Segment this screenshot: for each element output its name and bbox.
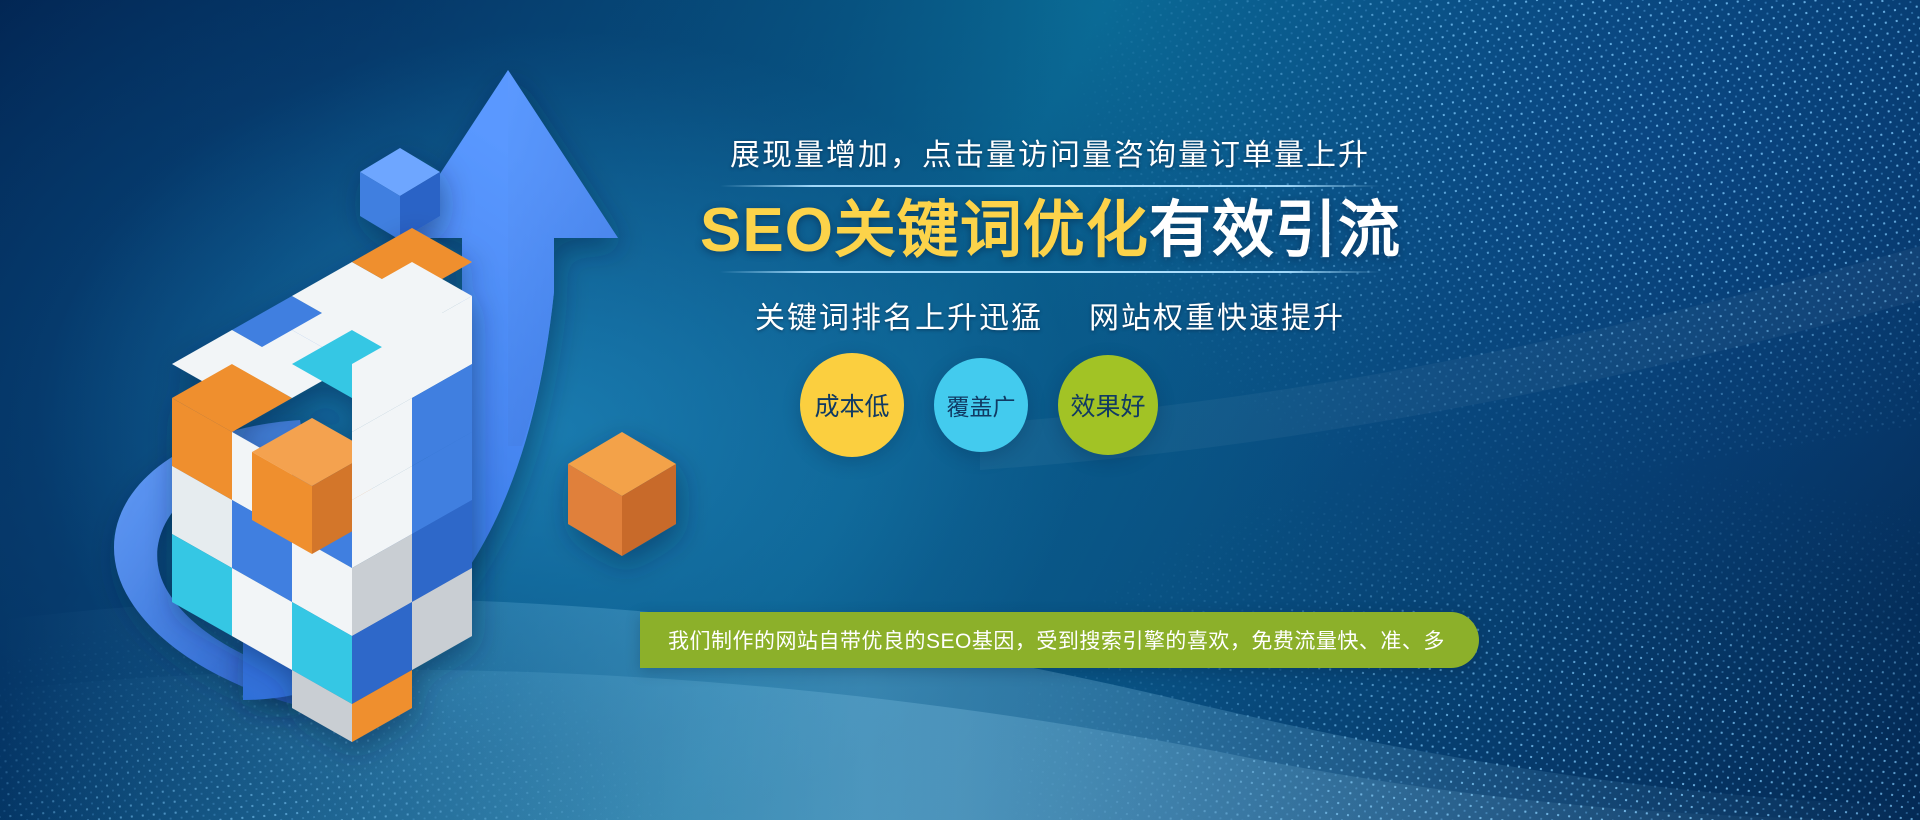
tagline-left: 关键词排名上升迅猛 — [755, 302, 1043, 335]
small-orange-cube-icon — [568, 432, 676, 556]
headline: SEO关键词优化有效引流 — [700, 196, 1400, 265]
divider-top — [720, 185, 1380, 187]
badge-low-cost[interactable]: 成本低 — [800, 353, 904, 457]
badge-wide-coverage[interactable]: 覆盖广 — [934, 358, 1028, 452]
headline-rest: 有效引流 — [1149, 196, 1401, 265]
subtitle: 展现量增加，点击量访问量咨询量订单量上升 — [700, 130, 1400, 185]
copy-block: 展现量增加，点击量访问量咨询量订单量上升 SEO关键词优化有效引流 关键词排名上… — [700, 130, 1400, 337]
tagline-right: 网站权重快速提升 — [1089, 302, 1345, 335]
divider-bottom — [720, 271, 1380, 273]
badge-label: 成本低 — [814, 387, 889, 423]
ribbon-banner: 我们制作的网站自带优良的SEO基因，受到搜索引擎的喜欢，免费流量快、准、多 — [640, 612, 1479, 668]
headline-highlight: SEO关键词优化 — [700, 196, 1149, 265]
badge-group: 成本低 覆盖广 效果好 — [800, 345, 1270, 465]
badge-good-results[interactable]: 效果好 — [1058, 355, 1158, 455]
tagline: 关键词排名上升迅猛网站权重快速提升 — [700, 293, 1400, 337]
seo-promo-banner: 展现量增加，点击量访问量咨询量订单量上升 SEO关键词优化有效引流 关键词排名上… — [0, 0, 1920, 820]
ribbon-text: 我们制作的网站自带优良的SEO基因，受到搜索引擎的喜欢，免费流量快、准、多 — [668, 625, 1445, 655]
badge-label: 效果好 — [1070, 387, 1145, 423]
seo-artwork — [0, 0, 760, 820]
badge-label: 覆盖广 — [947, 388, 1016, 422]
